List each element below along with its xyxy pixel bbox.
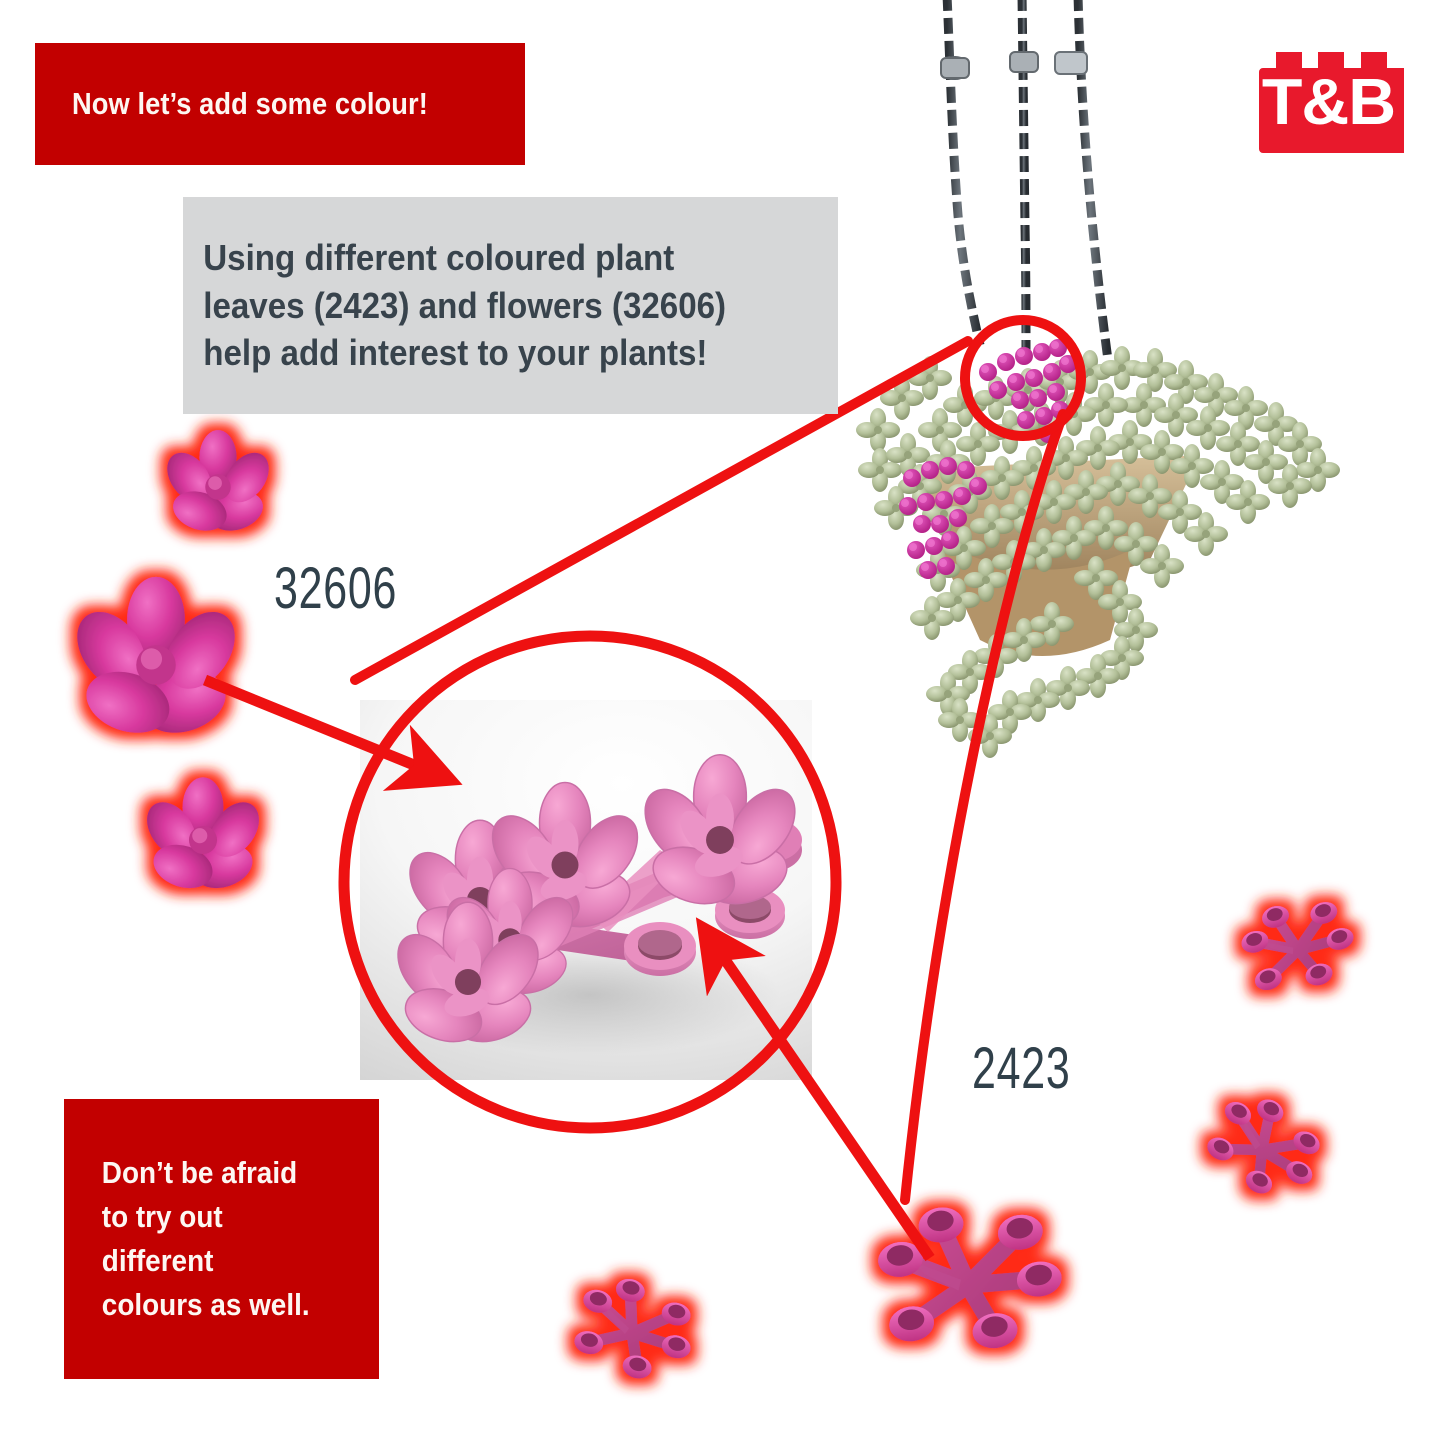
part-label-leaf: 2423 xyxy=(972,1035,1070,1102)
arrow-to-flower xyxy=(205,680,446,778)
tip-line-2: to try out xyxy=(102,1195,310,1239)
tip-box-text: Don’t be afraid to try out different col… xyxy=(64,1151,310,1327)
poster-canvas: Now let’s add some colour! Using differe… xyxy=(0,0,1440,1440)
tip-line-4: colours as well. xyxy=(102,1283,310,1327)
callout-cone xyxy=(355,341,1063,1200)
headline-text: Now let’s add some colour! xyxy=(35,86,428,122)
info-box-text: Using different coloured plant leaves (2… xyxy=(183,234,786,377)
highlight-circle xyxy=(965,320,1081,436)
magnifier-circle xyxy=(344,636,836,1128)
info-box: Using different coloured plant leaves (2… xyxy=(183,197,838,414)
headline-banner: Now let’s add some colour! xyxy=(35,43,525,165)
tip-box: Don’t be afraid to try out different col… xyxy=(64,1099,379,1379)
part-label-flower: 32606 xyxy=(274,555,397,622)
brand-logo-text: T&B xyxy=(1251,46,1405,157)
tip-line-1: Don’t be afraid xyxy=(102,1151,310,1195)
tip-line-3: different xyxy=(102,1239,310,1283)
brand-logo[interactable]: T&B xyxy=(1253,24,1404,157)
